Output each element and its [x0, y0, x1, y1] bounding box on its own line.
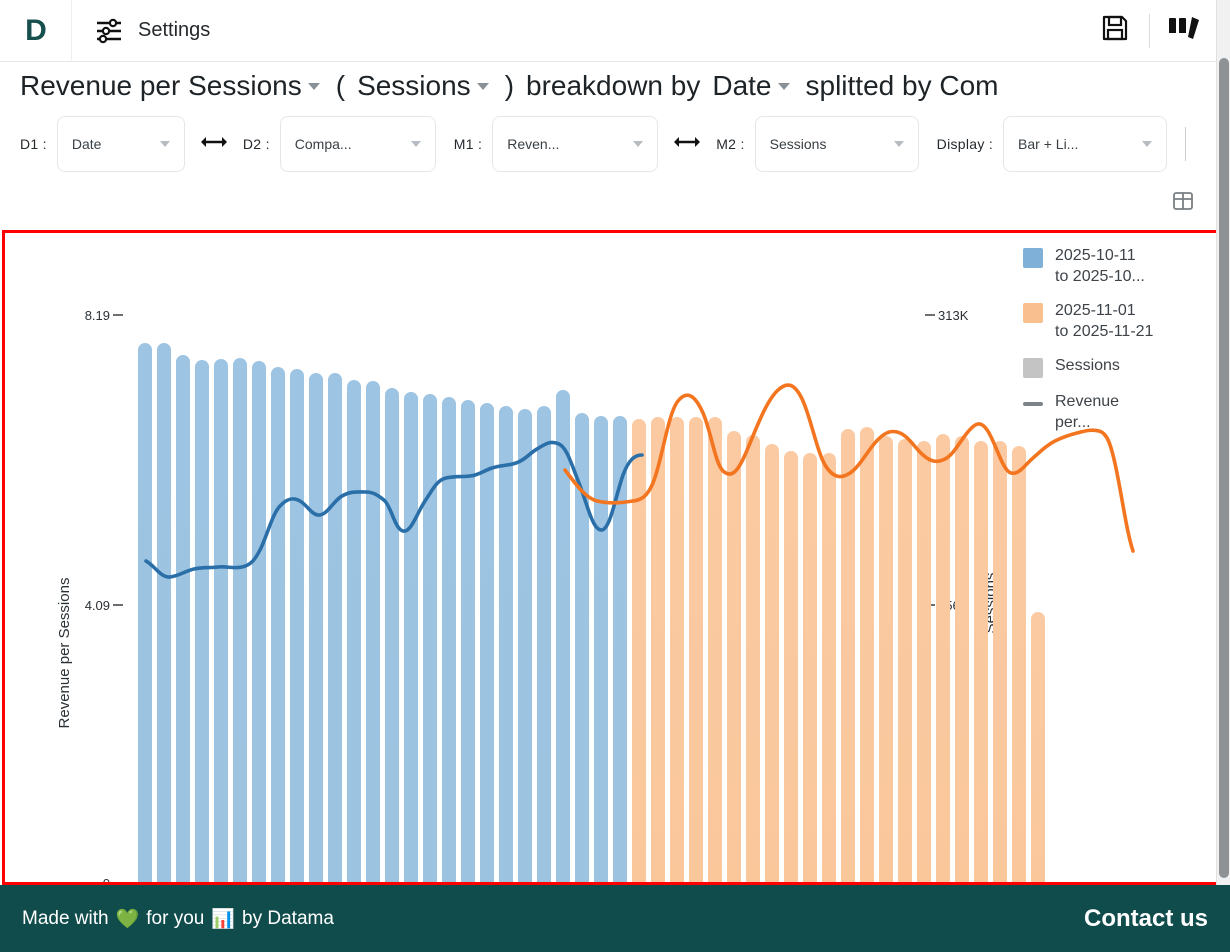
- legend-swatch-orange: [1023, 303, 1043, 323]
- title-metric[interactable]: Revenue per Sessions: [20, 70, 302, 102]
- title-breakdown-prefix: breakdown by: [526, 70, 700, 102]
- footer-for-you: for you: [146, 908, 204, 930]
- footer-by-datama: by Datama: [242, 908, 334, 930]
- legend-period-1[interactable]: 2025-10-11 to 2025-10...: [1023, 245, 1201, 287]
- chart-view-button[interactable]: [1156, 0, 1212, 62]
- swap-m1-m2-button[interactable]: [664, 116, 710, 172]
- legend-revenue-per[interactable]: Revenue per...: [1023, 391, 1201, 433]
- footer-credit: Made with 💚 for you 📊 by Datama: [22, 907, 334, 931]
- display-select[interactable]: Bar + Li...: [1003, 116, 1167, 172]
- left-axis-title: Revenue per Sessions: [56, 578, 73, 729]
- save-icon: [1100, 13, 1130, 48]
- settings-label: Settings: [138, 19, 210, 42]
- title-split-text[interactable]: splitted by Com: [806, 70, 999, 102]
- d2-select[interactable]: Compa...: [280, 116, 436, 172]
- legend-label: 2025-11-01 to 2025-11-21: [1055, 300, 1153, 342]
- legend-sessions[interactable]: Sessions: [1023, 355, 1201, 378]
- chart-legend: 2025-10-11 to 2025-10... 2025-11-01 to 2…: [1023, 245, 1201, 433]
- d1-value: Date: [72, 136, 102, 152]
- m1-label: M1 :: [454, 136, 482, 152]
- footer-made-with: Made with: [22, 908, 109, 930]
- title-open-paren: (: [336, 70, 345, 102]
- legend-line-marker: [1023, 402, 1043, 406]
- left-axis-tick-zero: 0: [103, 876, 110, 882]
- bar-group-period-1: [138, 343, 627, 882]
- top-bar-actions: [1087, 0, 1230, 62]
- vertical-scrollbar[interactable]: [1216, 0, 1230, 885]
- swap-horizontal-icon: [200, 134, 228, 155]
- title-close-paren: ): [505, 70, 514, 102]
- chevron-down-icon: [1142, 141, 1152, 147]
- title-metric-caret-icon[interactable]: [308, 83, 320, 90]
- d2-value: Compa...: [295, 136, 352, 152]
- title-secondary-caret-icon[interactable]: [477, 83, 489, 90]
- settings-button[interactable]: Settings: [72, 0, 210, 62]
- legend-label: 2025-10-11 to 2025-10...: [1055, 245, 1145, 287]
- controls-divider: [1185, 127, 1186, 161]
- display-label: Display :: [937, 136, 993, 152]
- app-top-bar: D Settings: [0, 0, 1230, 62]
- bar-group-period-2: [632, 417, 1045, 882]
- swap-d1-d2-button[interactable]: [191, 116, 237, 172]
- chevron-down-icon: [894, 141, 904, 147]
- title-secondary-metric[interactable]: Sessions: [357, 70, 471, 102]
- left-axis-tick-top: 8.19: [85, 308, 110, 323]
- heart-icon: 💚: [116, 907, 140, 931]
- legend-label: Sessions: [1055, 355, 1120, 376]
- bar-chart-icon: [1166, 13, 1202, 48]
- left-axis-tick-mid: 4.09: [85, 598, 110, 613]
- d2-label: D2 :: [243, 136, 270, 152]
- title-breakdown-dimension[interactable]: Date: [712, 70, 771, 102]
- chevron-down-icon: [633, 141, 643, 147]
- d1-select[interactable]: Date: [57, 116, 185, 172]
- bar-chart-emoji-icon: 📊: [211, 907, 235, 931]
- dimension-metric-controls: D1 : Date D2 : Compa... M1 : Reven...: [0, 110, 1230, 178]
- contact-us-link[interactable]: Contact us: [1084, 905, 1208, 933]
- chart-title-bar: Revenue per Sessions ( Sessions ) breakd…: [0, 62, 1230, 110]
- m1-select[interactable]: Reven...: [492, 116, 658, 172]
- sliders-icon: [94, 18, 124, 44]
- legend-label: Revenue per...: [1055, 391, 1119, 433]
- title-breakdown-caret-icon[interactable]: [778, 83, 790, 90]
- table-grid-icon: [1172, 190, 1194, 217]
- chevron-down-icon: [411, 141, 421, 147]
- scrollbar-thumb[interactable]: [1219, 58, 1229, 878]
- logo-text: D: [25, 14, 46, 48]
- legend-period-2[interactable]: 2025-11-01 to 2025-11-21: [1023, 300, 1201, 342]
- swap-horizontal-icon: [673, 134, 701, 155]
- m2-value: Sessions: [770, 136, 827, 152]
- legend-swatch-grey: [1023, 358, 1043, 378]
- toolbar-divider: [1149, 14, 1150, 48]
- chart-container[interactable]: 8.19 4.09 0 Revenue per Sessions 313K 15…: [2, 230, 1228, 885]
- m2-select[interactable]: Sessions: [755, 116, 919, 172]
- right-axis-tick-top: 313K: [938, 308, 969, 323]
- d1-label: D1 :: [20, 136, 47, 152]
- display-value: Bar + Li...: [1018, 136, 1078, 152]
- legend-swatch-blue: [1023, 248, 1043, 268]
- chart-tools-row: [0, 178, 1230, 230]
- m1-value: Reven...: [507, 136, 559, 152]
- app-footer: Made with 💚 for you 📊 by Datama Contact …: [0, 885, 1230, 952]
- app-logo[interactable]: D: [0, 0, 72, 62]
- m2-label: M2 :: [716, 136, 744, 152]
- table-view-button[interactable]: [1166, 186, 1200, 220]
- save-button[interactable]: [1087, 0, 1143, 62]
- chevron-down-icon: [160, 141, 170, 147]
